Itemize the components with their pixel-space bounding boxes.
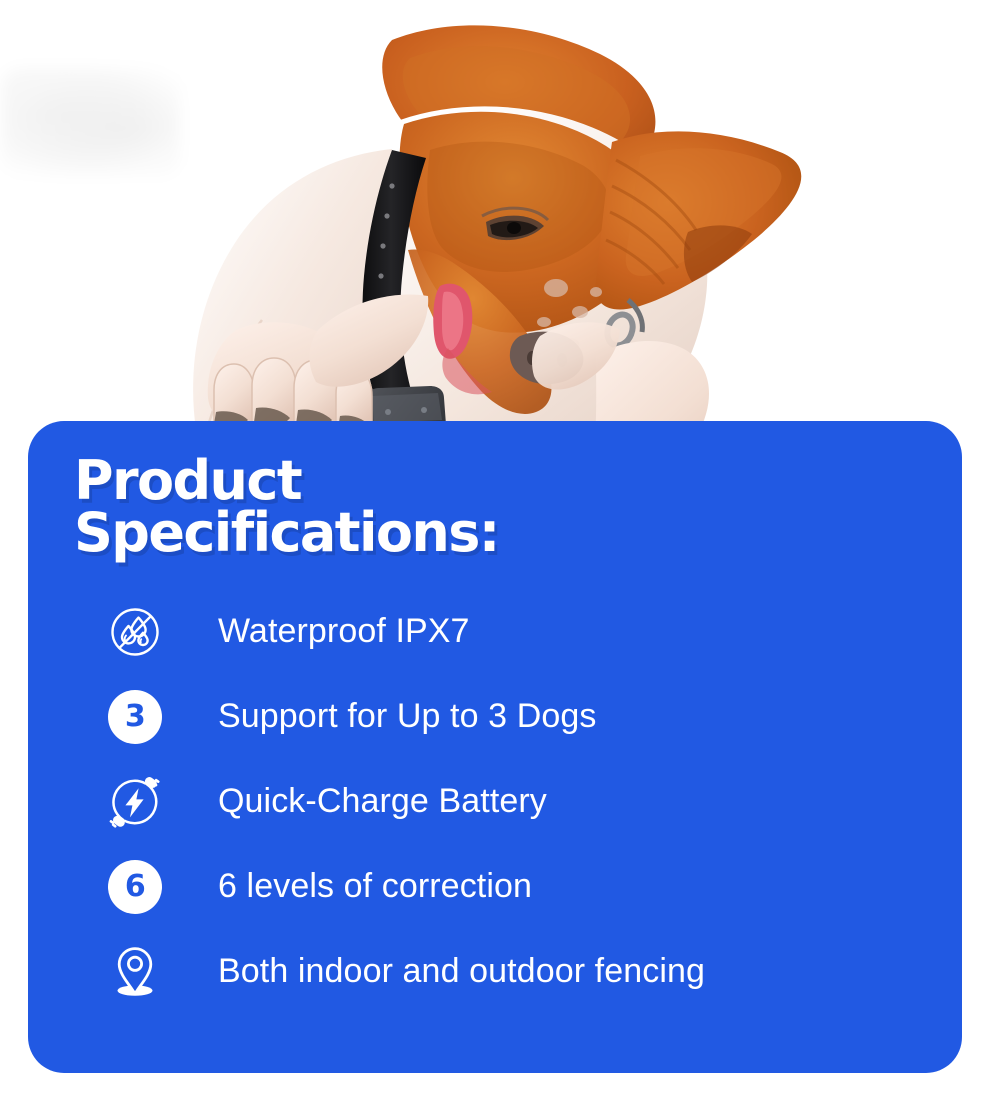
collar-d-ring bbox=[603, 300, 643, 349]
page-title-line-2: Specifications: bbox=[74, 508, 499, 558]
dog-head-tan-patch bbox=[400, 112, 652, 414]
number-badge-6-icon: 6 bbox=[106, 858, 164, 916]
list-item: Quick-Charge Battery bbox=[106, 759, 936, 844]
product-specifications-infographic: Product Specifications: bbox=[0, 0, 990, 1100]
specifications-list: Waterproof IPX7 3 Support for Up to 3 Do… bbox=[106, 589, 936, 1014]
quick-charge-lightning-cable-icon bbox=[106, 773, 164, 831]
dog-eye bbox=[482, 208, 548, 240]
product-specifications-card: Product Specifications: bbox=[28, 421, 962, 1073]
number-badge-6-value: 6 bbox=[108, 860, 162, 914]
training-collar-strap bbox=[363, 150, 427, 402]
list-item-label: Support for Up to 3 Dogs bbox=[218, 698, 597, 735]
dog-right-ear bbox=[595, 131, 801, 309]
number-badge-3-value: 3 bbox=[108, 690, 162, 744]
dog-tongue bbox=[433, 284, 472, 359]
list-item: Both indoor and outdoor fencing bbox=[106, 929, 936, 1014]
dog-left-front-paw bbox=[208, 294, 428, 431]
dog-chin bbox=[442, 348, 492, 394]
dog-left-ear bbox=[382, 25, 655, 188]
list-item: 3 Support for Up to 3 Dogs bbox=[106, 674, 936, 759]
no-water-droplets-icon bbox=[106, 603, 164, 661]
list-item-label: Quick-Charge Battery bbox=[218, 783, 547, 820]
list-item-label: Both indoor and outdoor fencing bbox=[218, 953, 705, 990]
list-item: Waterproof IPX7 bbox=[106, 589, 936, 674]
page-title-line-1: Product bbox=[74, 456, 499, 506]
list-item-label: 6 levels of correction bbox=[218, 868, 532, 905]
dog-muzzle-dark-markings bbox=[511, 335, 577, 374]
location-pin-icon bbox=[106, 943, 164, 1001]
list-item-label: Waterproof IPX7 bbox=[218, 613, 470, 650]
dog-muzzle-freckles bbox=[530, 279, 602, 361]
faint-erased-watermark-smudge bbox=[2, 68, 180, 176]
dog-nose bbox=[510, 332, 584, 385]
page-title: Product Specifications: bbox=[74, 456, 499, 557]
number-badge-3-icon: 3 bbox=[106, 688, 164, 746]
list-item: 6 6 levels of correction bbox=[106, 844, 936, 929]
